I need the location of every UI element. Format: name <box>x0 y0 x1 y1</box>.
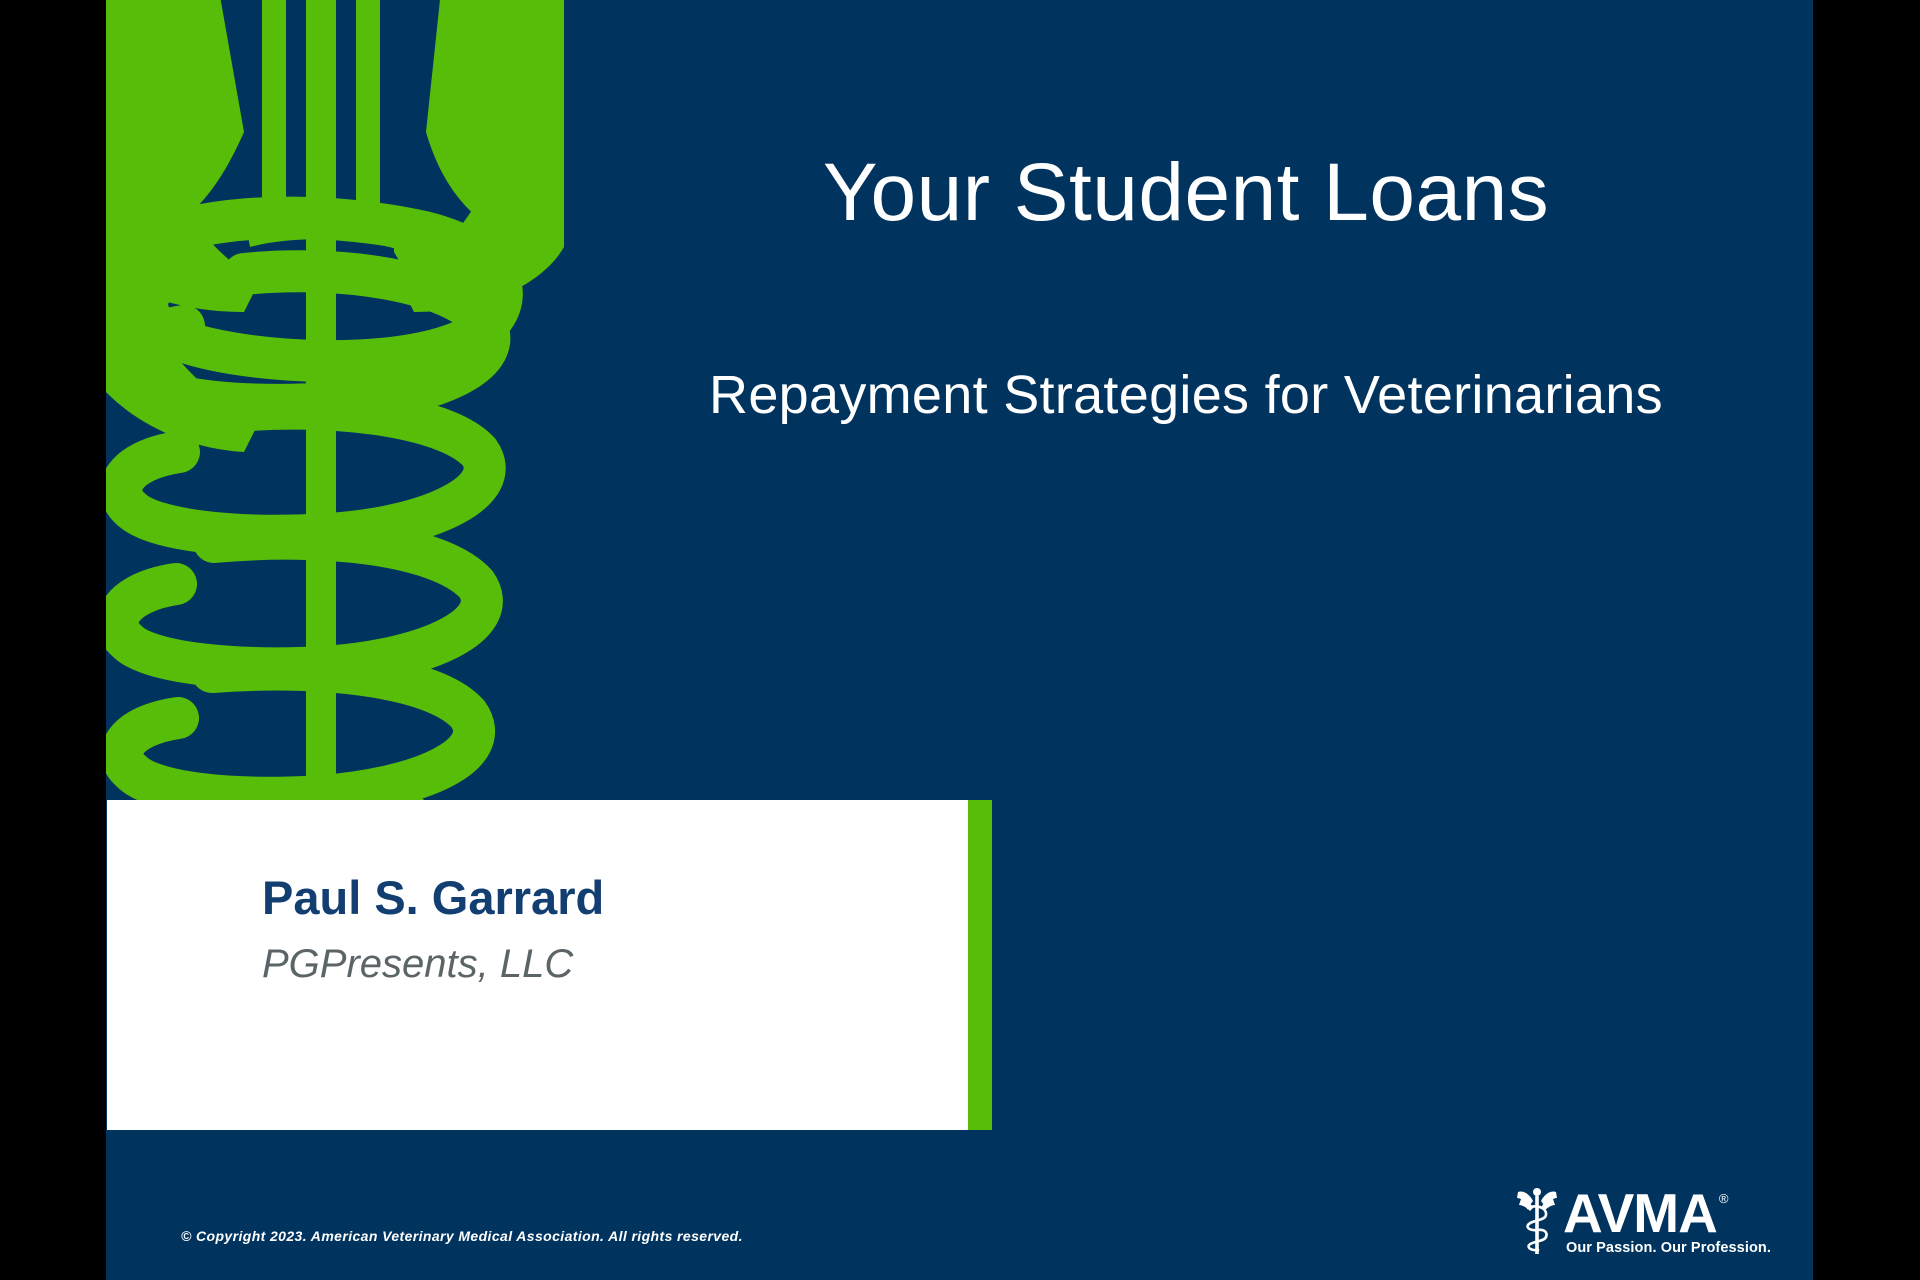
presenter-organization: PGPresents, LLC <box>262 942 992 986</box>
avma-text-wrap: AVMA ® Our Passion. Our Profession. <box>1563 1186 1771 1256</box>
avma-wordmark: AVMA <box>1563 1188 1717 1239</box>
caduceus-dollar-sign-graphic <box>106 0 564 827</box>
slide-canvas: Your Student Loans Repayment Strategies … <box>106 0 1813 1280</box>
slide-subtitle: Repayment Strategies for Veterinarians <box>586 366 1786 425</box>
slide-title: Your Student Loans <box>586 150 1786 236</box>
title-block: Your Student Loans Repayment Strategies … <box>586 150 1786 425</box>
avma-wordmark-row: AVMA ® <box>1563 1188 1728 1239</box>
avma-tagline: Our Passion. Our Profession. <box>1566 1240 1771 1256</box>
presentation-slide-viewport: Your Student Loans Repayment Strategies … <box>0 0 1920 1280</box>
letterbox-bar-left <box>0 0 106 1280</box>
presenter-card-accent-bar <box>968 800 992 1130</box>
caduceus-icon <box>1515 1186 1559 1256</box>
registered-trademark-icon: ® <box>1719 1192 1729 1205</box>
presenter-card: Paul S. Garrard PGPresents, LLC <box>107 800 992 1130</box>
avma-logo: AVMA ® Our Passion. Our Profession. <box>1515 1186 1771 1258</box>
presenter-name: Paul S. Garrard <box>262 872 992 924</box>
letterbox-bar-right <box>1813 0 1920 1280</box>
copyright-notice: © Copyright 2023. American Veterinary Me… <box>181 1228 743 1244</box>
